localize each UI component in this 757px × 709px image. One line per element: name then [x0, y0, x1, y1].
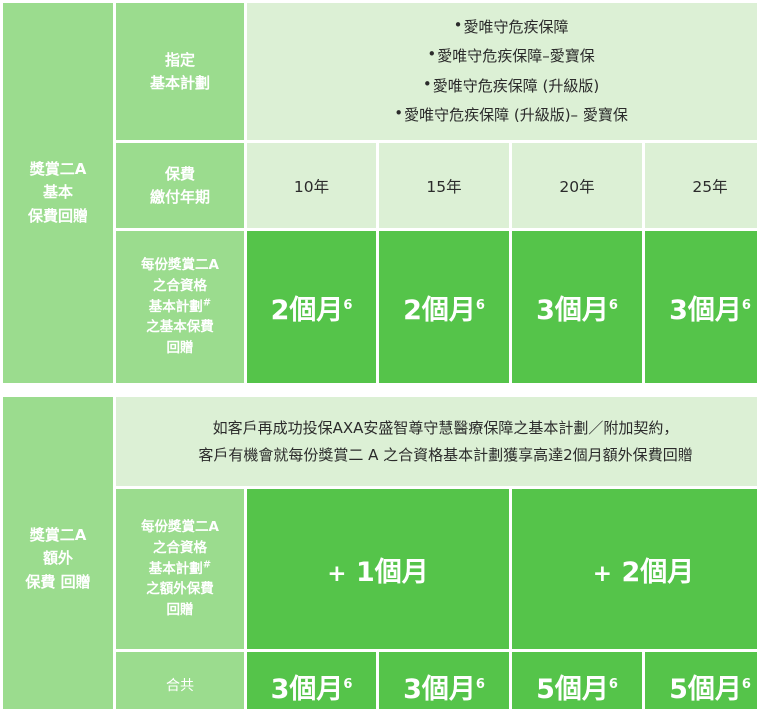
sub-label-line: 繳付年期	[121, 186, 239, 209]
sub-label-line: 合共	[121, 676, 239, 697]
footnote-marker: 6	[742, 677, 751, 692]
section-label-line: 保費回贈	[8, 205, 108, 228]
footnote-marker: 6	[476, 298, 485, 313]
sub-label-line: 之合資格	[121, 538, 239, 559]
sub-label-line: 每份獎賞二A	[121, 255, 239, 276]
total-value-10: 3個月6	[247, 652, 376, 709]
footnote-marker: 6	[609, 298, 618, 313]
sub-label-line: 回贈	[121, 600, 239, 621]
table-row: 獎賞二A 基本 保費回贈 指定 基本計劃 •愛唯守危疾保障 •愛唯守危疾保障–愛…	[3, 3, 757, 140]
sub-label-extra-premium-rebate: 每份獎賞二A 之合資格 基本計劃# 之額外保費 回贈	[116, 489, 244, 649]
footnote-marker: 6	[476, 677, 485, 692]
payment-term-10: 10年	[247, 143, 376, 228]
footnote-marker: 6	[343, 298, 352, 313]
sub-label-line: 之合資格	[121, 276, 239, 297]
sub-label-line: 之基本保費	[121, 317, 239, 338]
sub-label-line: 基本計劃#	[121, 559, 239, 580]
plan-list-item: •愛唯守危疾保障	[252, 13, 757, 42]
extra-rebate-value-20-25: + 2個月	[512, 489, 757, 649]
section-divider-fill	[3, 386, 757, 394]
sub-label-line: 基本計劃#	[121, 297, 239, 318]
section-label-reward-2a-extra: 獎賞二A 額外 保費 回贈	[3, 397, 113, 709]
footnote-marker: 6	[343, 677, 352, 692]
table-row: 獎賞二A 額外 保費 回贈 如客戶再成功投保AXA安盛智尊守慧醫療保障之基本計劃…	[3, 397, 757, 486]
hash-marker: #	[203, 297, 211, 308]
payment-term-15: 15年	[379, 143, 509, 228]
basic-rebate-value-10: 2個月6	[247, 231, 376, 383]
payment-term-25: 25年	[645, 143, 757, 228]
sub-label-line: 之額外保費	[121, 579, 239, 600]
total-value-25: 5個月6	[645, 652, 757, 709]
basic-rebate-value-15: 2個月6	[379, 231, 509, 383]
plan-list-item: •愛唯守危疾保障–愛寶保	[252, 42, 757, 71]
sub-label-line: 基本計劃	[121, 72, 239, 95]
designated-basic-plans-list: •愛唯守危疾保障 •愛唯守危疾保障–愛寶保 •愛唯守危疾保障 (升級版) •愛唯…	[247, 3, 757, 140]
sub-label-line: 保費	[121, 163, 239, 186]
note-line: 客戶有機會就每份獎賞二 A 之合資格基本計劃獲享高達2個月額外保費回贈	[121, 442, 757, 468]
basic-rebate-value-25: 3個月6	[645, 231, 757, 383]
table-row: 每份獎賞二A 之合資格 基本計劃# 之基本保費 回贈 2個月6 2個月6 3個月…	[3, 231, 757, 383]
sub-label-premium-payment-term: 保費 繳付年期	[116, 143, 244, 228]
plan-list-item: •愛唯守危疾保障 (升級版)– 愛寶保	[252, 101, 757, 130]
hash-marker: #	[203, 559, 211, 570]
sub-label-total: 合共	[116, 652, 244, 709]
section-divider	[3, 386, 757, 394]
plus-sign: +	[593, 561, 612, 587]
table-row: 保費 繳付年期 10年 15年 20年 25年	[3, 143, 757, 228]
table-row: 合共 3個月6 3個月6 5個月6 5個月6	[3, 652, 757, 709]
footnote-marker: 6	[609, 677, 618, 692]
bullet-icon: •	[394, 106, 403, 121]
section-label-line: 保費 回贈	[8, 571, 108, 594]
sub-label-line: 回贈	[121, 338, 239, 359]
plan-list-item: •愛唯守危疾保障 (升級版)	[252, 72, 757, 101]
extra-rebate-note: 如客戶再成功投保AXA安盛智尊守慧醫療保障之基本計劃／附加契約， 客戶有機會就每…	[116, 397, 757, 486]
extra-rebate-value-10-15: + 1個月	[247, 489, 509, 649]
bullet-icon: •	[427, 47, 436, 62]
payment-term-20: 20年	[512, 143, 642, 228]
reward-table: 獎賞二A 基本 保費回贈 指定 基本計劃 •愛唯守危疾保障 •愛唯守危疾保障–愛…	[0, 0, 757, 709]
total-value-15: 3個月6	[379, 652, 509, 709]
section-label-line: 基本	[8, 181, 108, 204]
reward-table-container: 獎賞二A 基本 保費回贈 指定 基本計劃 •愛唯守危疾保障 •愛唯守危疾保障–愛…	[0, 0, 757, 709]
sub-label-designated-basic-plans: 指定 基本計劃	[116, 3, 244, 140]
sub-label-line: 每份獎賞二A	[121, 517, 239, 538]
section-label-line: 獎賞二A	[8, 158, 108, 181]
table-row: 每份獎賞二A 之合資格 基本計劃# 之額外保費 回贈 + 1個月 + 2個月	[3, 489, 757, 649]
basic-rebate-value-20: 3個月6	[512, 231, 642, 383]
total-value-20: 5個月6	[512, 652, 642, 709]
note-line: 如客戶再成功投保AXA安盛智尊守慧醫療保障之基本計劃／附加契約，	[121, 415, 757, 441]
bullet-icon: •	[454, 18, 463, 33]
sub-label-line: 指定	[121, 49, 239, 72]
section-label-line: 額外	[8, 547, 108, 570]
bullet-icon: •	[423, 77, 432, 92]
sub-label-basic-premium-rebate: 每份獎賞二A 之合資格 基本計劃# 之基本保費 回贈	[116, 231, 244, 383]
footnote-marker: 6	[742, 298, 751, 313]
plus-sign: +	[327, 561, 346, 587]
section-label-line: 獎賞二A	[8, 524, 108, 547]
section-label-reward-2a-basic: 獎賞二A 基本 保費回贈	[3, 3, 113, 383]
